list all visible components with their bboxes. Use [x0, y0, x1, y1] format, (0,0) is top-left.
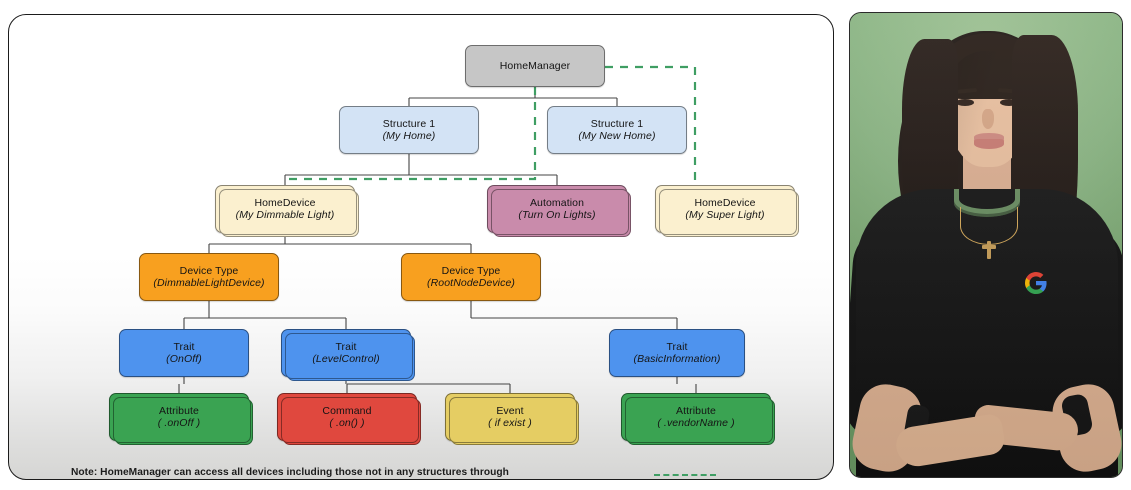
- node-home-device-dim: HomeDevice(My Dimmable Light): [215, 185, 355, 233]
- slide-panel: HomeManagerStructure 1(My Home)Structure…: [8, 14, 834, 480]
- node-automation: Automation(Turn On Lights): [487, 185, 627, 233]
- node-subtitle: ( .on() ): [329, 417, 364, 429]
- node-title: Device Type: [180, 265, 239, 277]
- node-subtitle: (My Home): [383, 130, 436, 142]
- node-subtitle: (OnOff): [166, 353, 202, 365]
- node-title: Structure 1: [591, 118, 643, 130]
- node-title: Command: [322, 405, 371, 417]
- node-attribute-vendor: Attribute( .vendorName ): [621, 393, 771, 441]
- node-title: HomeManager: [500, 60, 571, 72]
- node-subtitle: (DimmableLightDevice): [153, 277, 264, 289]
- node-title: Trait: [335, 341, 356, 353]
- node-home-manager: HomeManager: [465, 45, 605, 87]
- node-event-if-exist: Event( if exist ): [445, 393, 575, 441]
- node-title: HomeDevice: [694, 197, 755, 209]
- node-title: Attribute: [159, 405, 199, 417]
- node-subtitle: (LevelControl): [312, 353, 379, 365]
- node-structure-1-home: Structure 1(My Home): [339, 106, 479, 154]
- node-trait-levelcontrol: Trait(LevelControl): [281, 329, 411, 377]
- presenter-video[interactable]: [849, 12, 1123, 478]
- node-structure-1-new: Structure 1(My New Home): [547, 106, 687, 154]
- node-title: Trait: [173, 341, 194, 353]
- node-command-on: Command( .on() ): [277, 393, 417, 441]
- node-trait-basicinfo: Trait(BasicInformation): [609, 329, 745, 377]
- node-title: HomeDevice: [254, 197, 315, 209]
- screen: HomeManagerStructure 1(My Home)Structure…: [0, 0, 1131, 490]
- dashed-line-legend: [654, 474, 716, 476]
- node-subtitle: (Turn On Lights): [518, 209, 595, 221]
- node-trait-onoff: Trait(OnOff): [119, 329, 249, 377]
- node-title: Event: [496, 405, 523, 417]
- node-subtitle: (RootNodeDevice): [427, 277, 515, 289]
- node-subtitle: ( .onOff ): [158, 417, 200, 429]
- node-attribute-onoff: Attribute( .onOff ): [109, 393, 249, 441]
- node-home-device-super: HomeDevice(My Super Light): [655, 185, 795, 233]
- node-title: Device Type: [442, 265, 501, 277]
- diagram-note: Note: HomeManager can access all devices…: [71, 467, 509, 478]
- node-device-type-root: Device Type(RootNodeDevice): [401, 253, 541, 301]
- node-title: Automation: [530, 197, 584, 209]
- node-subtitle: ( if exist ): [488, 417, 532, 429]
- node-subtitle: (BasicInformation): [634, 353, 721, 365]
- node-subtitle: (My New Home): [578, 130, 655, 142]
- node-subtitle: ( .vendorName ): [657, 417, 734, 429]
- node-title: Trait: [666, 341, 687, 353]
- video-vignette: [850, 13, 1122, 477]
- node-title: Structure 1: [383, 118, 435, 130]
- node-subtitle: (My Dimmable Light): [236, 209, 335, 221]
- node-device-type-dim: Device Type(DimmableLightDevice): [139, 253, 279, 301]
- node-title: Attribute: [676, 405, 716, 417]
- node-subtitle: (My Super Light): [685, 209, 764, 221]
